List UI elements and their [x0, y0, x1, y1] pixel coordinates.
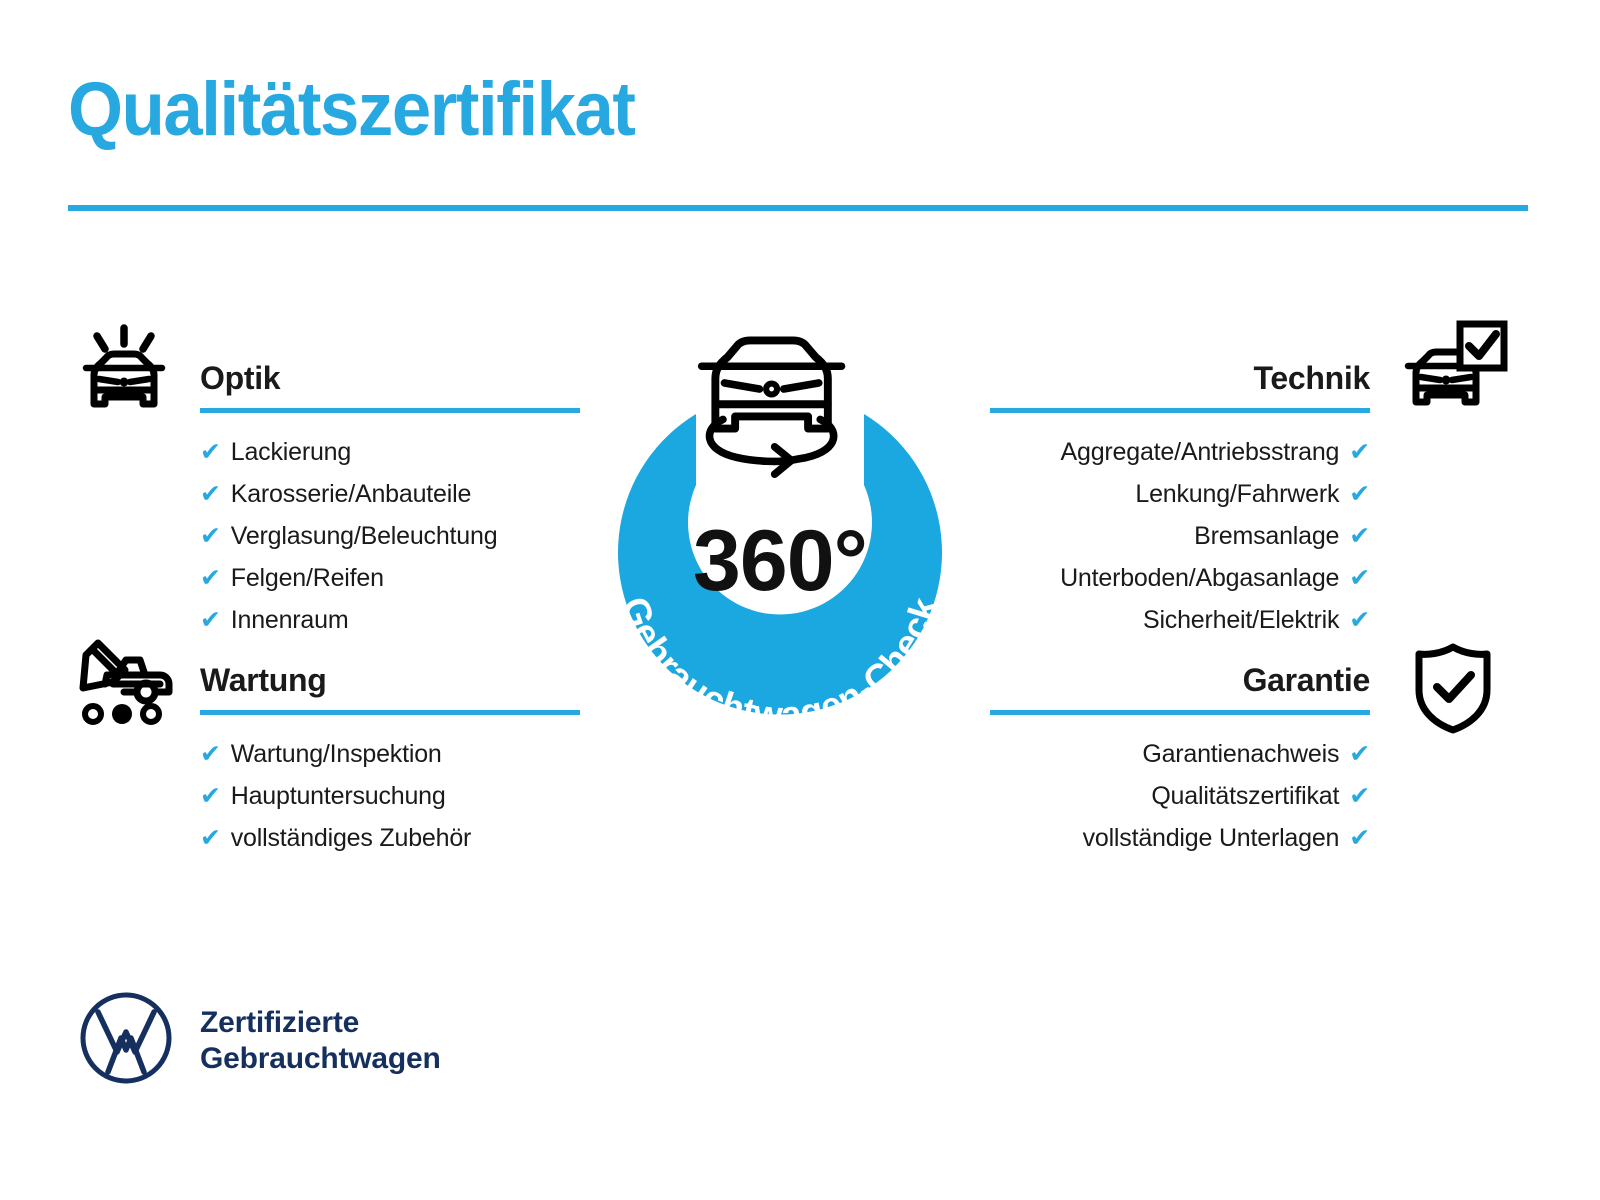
footer-brand: Zertifizierte Gebrauchtwagen	[78, 990, 441, 1091]
section-divider	[200, 408, 580, 413]
check-icon: ✔	[1349, 564, 1370, 592]
brand-line-1: Zertifizierte	[200, 1005, 441, 1040]
certificate-page: Qualitätszertifikat	[0, 0, 1600, 1200]
list-item: ✔Hauptuntersuchung	[200, 775, 580, 817]
list-item-label: Innenraum	[231, 606, 349, 634]
checklist-optik: ✔Lackierung ✔Karosserie/Anbauteile ✔Verg…	[200, 431, 580, 641]
list-item: ✔Lackierung	[200, 431, 580, 473]
check-icon: ✔	[200, 824, 221, 852]
section-wartung: Wartung ✔Wartung/Inspektion ✔Hauptunters…	[200, 657, 580, 859]
list-item: ✔Innenraum	[200, 599, 580, 641]
check-icon: ✔	[1349, 740, 1370, 768]
badge-center-label: 360°	[693, 513, 867, 609]
list-item: Aggregate/Antriebsstrang✔	[985, 431, 1370, 473]
list-item-label: Aggregate/Antriebsstrang	[1061, 438, 1340, 466]
section-header: Garantie	[985, 657, 1370, 715]
list-item-label: Bremsanlage	[1194, 522, 1339, 550]
list-item-label: vollständige Unterlagen	[1083, 824, 1340, 852]
section-title: Garantie	[1243, 662, 1370, 699]
car-shine-icon	[72, 322, 177, 432]
check-icon: ✔	[200, 522, 221, 550]
page-title: Qualitätszertifikat	[68, 72, 635, 148]
shield-check-icon	[1408, 640, 1498, 740]
car-checkbox-icon	[1398, 320, 1508, 430]
check-icon: ✔	[1349, 438, 1370, 466]
checklist-garantie: Garantienachweis✔ Qualitätszertifikat✔ v…	[985, 733, 1370, 859]
header-divider	[68, 205, 1528, 211]
list-item: ✔Karosserie/Anbauteile	[200, 473, 580, 515]
list-item: vollständige Unterlagen✔	[985, 817, 1370, 859]
list-item: Garantienachweis✔	[985, 733, 1370, 775]
list-item-label: Karosserie/Anbauteile	[231, 480, 471, 508]
360-check-badge: Gebrauchtwagen-Check 360°	[560, 300, 1000, 770]
volkswagen-logo	[78, 990, 174, 1091]
list-item: Unterboden/Abgasanlage✔	[985, 557, 1370, 599]
section-title: Optik	[200, 360, 280, 397]
section-technik: Technik Aggregate/Antriebsstrang✔ Lenkun…	[985, 355, 1370, 641]
section-divider	[200, 710, 580, 715]
section-header: Wartung	[200, 657, 580, 715]
check-icon: ✔	[1349, 480, 1370, 508]
list-item-label: Felgen/Reifen	[231, 564, 384, 592]
check-icon: ✔	[200, 564, 221, 592]
list-item: ✔vollständiges Zubehör	[200, 817, 580, 859]
section-optik: Optik ✔Lackierung ✔Karosserie/Anbauteile…	[200, 355, 580, 641]
list-item: ✔Felgen/Reifen	[200, 557, 580, 599]
check-icon: ✔	[200, 606, 221, 634]
list-item-label: Unterboden/Abgasanlage	[1060, 564, 1339, 592]
car-rotation-icon	[702, 340, 842, 474]
list-item-label: Verglasung/Beleuchtung	[231, 522, 498, 550]
checklist-technik: Aggregate/Antriebsstrang✔ Lenkung/Fahrwe…	[985, 431, 1370, 641]
list-item-label: Lackierung	[231, 438, 351, 466]
list-item: Qualitätszertifikat✔	[985, 775, 1370, 817]
checklist-wartung: ✔Wartung/Inspektion ✔Hauptuntersuchung ✔…	[200, 733, 580, 859]
list-item-label: Garantienachweis	[1142, 740, 1339, 768]
section-divider	[990, 408, 1370, 413]
check-icon: ✔	[200, 782, 221, 810]
check-icon: ✔	[200, 480, 221, 508]
check-icon: ✔	[1349, 782, 1370, 810]
section-title: Technik	[1254, 360, 1370, 397]
list-item-label: Sicherheit/Elektrik	[1143, 606, 1339, 634]
list-item: Bremsanlage✔	[985, 515, 1370, 557]
list-item-label: Hauptuntersuchung	[231, 782, 446, 810]
list-item: Lenkung/Fahrwerk✔	[985, 473, 1370, 515]
brand-line-2: Gebrauchtwagen	[200, 1041, 441, 1076]
list-item-label: Wartung/Inspektion	[231, 740, 442, 768]
section-garantie: Garantie Garantienachweis✔ Qualitätszert…	[985, 657, 1370, 859]
section-header: Optik	[200, 355, 580, 413]
check-icon: ✔	[200, 740, 221, 768]
brand-wordmark: Zertifizierte Gebrauchtwagen	[200, 1005, 441, 1076]
list-item: ✔Wartung/Inspektion	[200, 733, 580, 775]
pencil-car-icon	[72, 632, 177, 737]
check-icon: ✔	[1349, 522, 1370, 550]
list-item-label: Qualitätszertifikat	[1151, 782, 1339, 810]
section-divider	[990, 710, 1370, 715]
list-item-label: Lenkung/Fahrwerk	[1135, 480, 1339, 508]
section-title: Wartung	[200, 662, 326, 699]
list-item: ✔Verglasung/Beleuchtung	[200, 515, 580, 557]
list-item: Sicherheit/Elektrik✔	[985, 599, 1370, 641]
check-icon: ✔	[1349, 606, 1370, 634]
section-header: Technik	[985, 355, 1370, 413]
check-icon: ✔	[200, 438, 221, 466]
list-item-label: vollständiges Zubehör	[231, 824, 471, 852]
check-icon: ✔	[1349, 824, 1370, 852]
